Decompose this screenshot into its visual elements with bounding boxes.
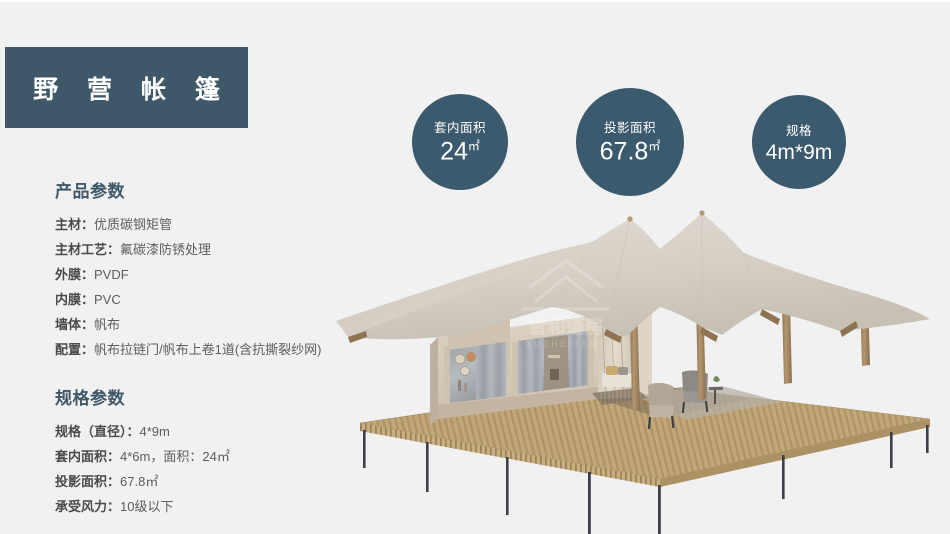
param-value: PVC — [94, 292, 121, 307]
watermark-cn-text: 雪和篷房 — [528, 315, 604, 338]
badge-label: 套内面积 — [434, 117, 486, 136]
product-param-row: 主材工艺：氟碳漆防锈处理 — [55, 237, 322, 262]
param-value: 67.8㎡ — [120, 474, 158, 489]
window-left — [450, 342, 506, 403]
param-key: 外膜： — [55, 267, 94, 282]
param-key: 配置： — [55, 342, 94, 357]
product-param-row: 内膜：PVC — [55, 287, 322, 312]
param-value: PVDF — [94, 267, 129, 282]
param-key: 墙体： — [55, 317, 94, 332]
watermark-en-text: XUEHE TENT — [526, 339, 607, 349]
tent-canopy — [336, 210, 930, 343]
tent-illustration: 雪和篷房 XUEHE TENT — [330, 187, 950, 534]
badge-dimensions: 规格 4m*9m — [752, 95, 846, 189]
badge-unit: ㎡ — [468, 139, 480, 153]
param-key: 规格（直径）： — [55, 424, 140, 439]
product-param-row: 外膜：PVDF — [55, 262, 322, 287]
badge-unit: ㎡ — [648, 139, 660, 153]
spec-params-heading: 规格参数 — [55, 384, 230, 409]
spec-param-row: 承受风力：10级以下 — [55, 494, 230, 519]
badge-label: 规格 — [786, 120, 812, 139]
param-value: 4*9m — [140, 424, 170, 439]
product-param-row: 主材：优质碳钢矩管 — [55, 212, 322, 237]
param-value: 10级以下 — [120, 499, 173, 514]
badge-number: 67.8 — [600, 138, 649, 166]
param-key: 投影面积： — [55, 474, 120, 489]
badge-value: 4m*9m — [766, 140, 833, 165]
badge-number: 24 — [440, 138, 468, 166]
param-value: 帆布 — [94, 317, 120, 332]
param-value: 氟碳漆防锈处理 — [120, 242, 211, 257]
param-value: 优质碳钢矩管 — [94, 217, 172, 232]
product-param-row: 配置：帆布拉链门/帆布上卷1道(含抗撕裂纱网) — [55, 337, 322, 362]
badge-number: 4m*9m — [766, 141, 833, 164]
page-title: 野 营 帐 篷 — [22, 70, 231, 106]
badge-value: 67.8㎡ — [600, 137, 661, 166]
spec-param-row: 规格（直径）：4*9m — [55, 419, 230, 444]
spec-params-panel: 规格参数 规格（直径）：4*9m 套内面积：4*6m，面积：24㎡ 投影面积：6… — [55, 384, 230, 519]
badge-label: 投影面积 — [604, 117, 656, 136]
spec-param-row: 套内面积：4*6m，面积：24㎡ — [55, 444, 230, 469]
param-key: 主材工艺： — [55, 242, 120, 257]
param-key: 内膜： — [55, 292, 94, 307]
badge-indoor-area: 套内面积 24㎡ — [412, 94, 508, 190]
product-params-panel: 产品参数 主材：优质碳钢矩管 主材工艺：氟碳漆防锈处理 外膜：PVDF 内膜：P… — [55, 177, 322, 362]
spec-param-row: 投影面积：67.8㎡ — [55, 469, 230, 494]
page-root: 野 营 帐 篷 产品参数 主材：优质碳钢矩管 主材工艺：氟碳漆防锈处理 外膜：P… — [0, 2, 950, 534]
product-param-row: 墙体：帆布 — [55, 312, 322, 337]
param-key: 主材： — [55, 217, 94, 232]
param-key: 承受风力： — [55, 499, 120, 514]
param-value: 帆布拉链门/帆布上卷1道(含抗撕裂纱网) — [94, 342, 322, 357]
badge-projected-area: 投影面积 67.8㎡ — [576, 88, 684, 196]
badge-value: 24㎡ — [440, 137, 480, 166]
param-value: 4*6m，面积：24㎡ — [120, 449, 230, 464]
product-params-heading: 产品参数 — [55, 177, 322, 202]
param-key: 套内面积： — [55, 449, 120, 464]
page-title-block: 野 营 帐 篷 — [5, 47, 248, 128]
